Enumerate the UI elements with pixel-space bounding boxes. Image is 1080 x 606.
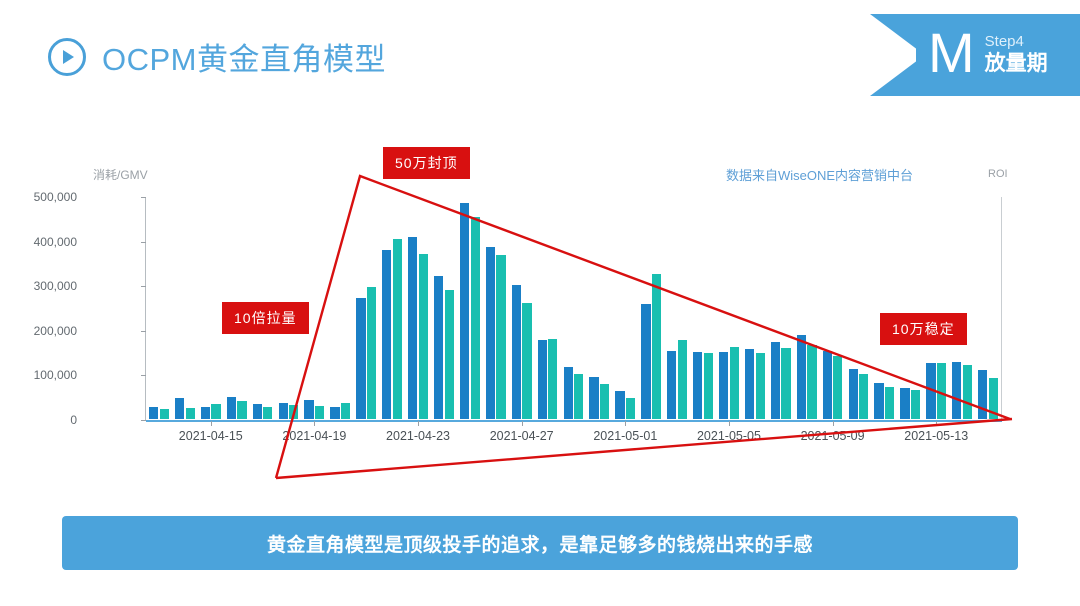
bar: [496, 255, 505, 419]
x-axis-tick-mark: [936, 421, 937, 426]
page-header: OCPM黄金直角模型 M Step4 放量期: [0, 0, 1080, 110]
bar: [574, 374, 583, 419]
bar: [408, 237, 417, 419]
bar: [781, 348, 790, 419]
bar: [849, 369, 858, 419]
bar: [963, 365, 972, 419]
chart-container: 消耗/GMV ROI 数据来自WiseONE内容营销中台 0100,000200…: [0, 130, 1080, 490]
bar: [548, 339, 557, 419]
bar: [237, 401, 246, 419]
x-axis-tick-label: 2021-05-13: [904, 429, 968, 443]
bar: [730, 347, 739, 419]
y-axis-tick-label: 500,000: [34, 190, 77, 204]
bar: [149, 407, 158, 419]
bar: [211, 404, 220, 419]
bar: [589, 377, 598, 419]
footer-text: 黄金直角模型是顶级投手的追求，是靠足够多的钱烧出来的手感: [267, 530, 813, 557]
bar: [693, 352, 702, 419]
bar: [175, 398, 184, 419]
x-axis-tick-mark: [211, 421, 212, 426]
step-badge-label: 放量期: [985, 51, 1048, 77]
y-axis-tick-label: 200,000: [34, 324, 77, 338]
y-axis-tick-mark: [141, 420, 146, 421]
bar: [745, 349, 754, 419]
play-circle-icon: [48, 38, 86, 76]
y-axis-tick-label: 300,000: [34, 279, 77, 293]
x-axis-tick-label: 2021-04-19: [282, 429, 346, 443]
bar: [704, 353, 713, 419]
bar: [227, 397, 236, 419]
page-title: OCPM黄金直角模型: [102, 34, 386, 79]
bar: [615, 391, 624, 419]
chart-callout-label: 50万封顶: [383, 147, 470, 179]
bar: [771, 342, 780, 419]
x-axis-tick-mark: [833, 421, 834, 426]
bar: [419, 254, 428, 419]
bar: [600, 384, 609, 419]
x-axis-tick-label: 2021-04-15: [179, 429, 243, 443]
bar: [900, 388, 909, 419]
title-row: OCPM黄金直角模型: [48, 34, 386, 79]
bar: [522, 303, 531, 419]
bar: [641, 304, 650, 419]
x-axis-tick-mark: [522, 421, 523, 426]
bar: [807, 345, 816, 419]
bar: [952, 362, 961, 419]
bar: [667, 351, 676, 419]
x-axis-tick-mark: [729, 421, 730, 426]
bar: [564, 367, 573, 419]
bar: [756, 353, 765, 419]
bar: [341, 403, 350, 419]
x-axis-tick-label: 2021-04-27: [490, 429, 554, 443]
x-axis-tick-label: 2021-04-23: [386, 429, 450, 443]
bar: [393, 239, 402, 419]
y-axis-title: 消耗/GMV: [93, 166, 148, 183]
chart-callout-label: 10倍拉量: [222, 302, 309, 334]
bar: [937, 363, 946, 419]
y-axis-tick-label: 100,000: [34, 368, 77, 382]
bar: [486, 247, 495, 419]
bar: [263, 407, 272, 419]
step-badge-step: Step4: [985, 33, 1048, 51]
chart-callout-label: 10万稳定: [880, 313, 967, 345]
x-axis-tick-label: 2021-05-09: [801, 429, 865, 443]
bar: [989, 378, 998, 419]
bar: [678, 340, 687, 419]
bar: [253, 404, 262, 419]
roi-axis-label: ROI: [988, 168, 1008, 180]
bar: [626, 398, 635, 419]
roi-axis-line: [1001, 197, 1002, 421]
bar: [512, 285, 521, 419]
bar: [719, 352, 728, 419]
bar: [356, 298, 365, 419]
footer-banner: 黄金直角模型是顶级投手的追求，是靠足够多的钱烧出来的手感: [62, 516, 1018, 570]
bar: [434, 276, 443, 419]
bar: [978, 370, 987, 419]
bar: [859, 374, 868, 419]
bar: [330, 407, 339, 419]
bar: [652, 274, 661, 419]
x-axis-tick-mark: [314, 421, 315, 426]
bar: [885, 387, 894, 419]
bar: [874, 383, 883, 419]
bar: [279, 403, 288, 420]
step-badge-body: M Step4 放量期: [916, 14, 1080, 96]
bar: [460, 203, 469, 419]
bar: [538, 340, 547, 419]
bar: [471, 217, 480, 419]
x-axis-tick-mark: [625, 421, 626, 426]
x-axis-tick-label: 2021-05-01: [593, 429, 657, 443]
bar: [445, 290, 454, 419]
bar: [315, 406, 324, 419]
x-axis-line: [146, 420, 1002, 422]
step-badge-letter: M: [928, 25, 975, 81]
y-axis-tick-label: 0: [70, 413, 77, 427]
bar: [823, 351, 832, 419]
step-badge: M Step4 放量期: [870, 14, 1080, 96]
source-note: 数据来自WiseONE内容营销中台: [726, 165, 913, 184]
y-axis-tick-label: 400,000: [34, 235, 77, 249]
bar: [911, 390, 920, 419]
x-axis-tick-mark: [418, 421, 419, 426]
bar: [926, 363, 935, 419]
bar: [304, 400, 313, 419]
bar: [289, 405, 298, 419]
bar: [201, 407, 210, 419]
bar: [160, 409, 169, 419]
bar: [186, 408, 195, 419]
bar: [797, 335, 806, 419]
bar: [367, 287, 376, 419]
bar: [382, 250, 391, 419]
x-axis-tick-label: 2021-05-05: [697, 429, 761, 443]
bar: [833, 356, 842, 419]
